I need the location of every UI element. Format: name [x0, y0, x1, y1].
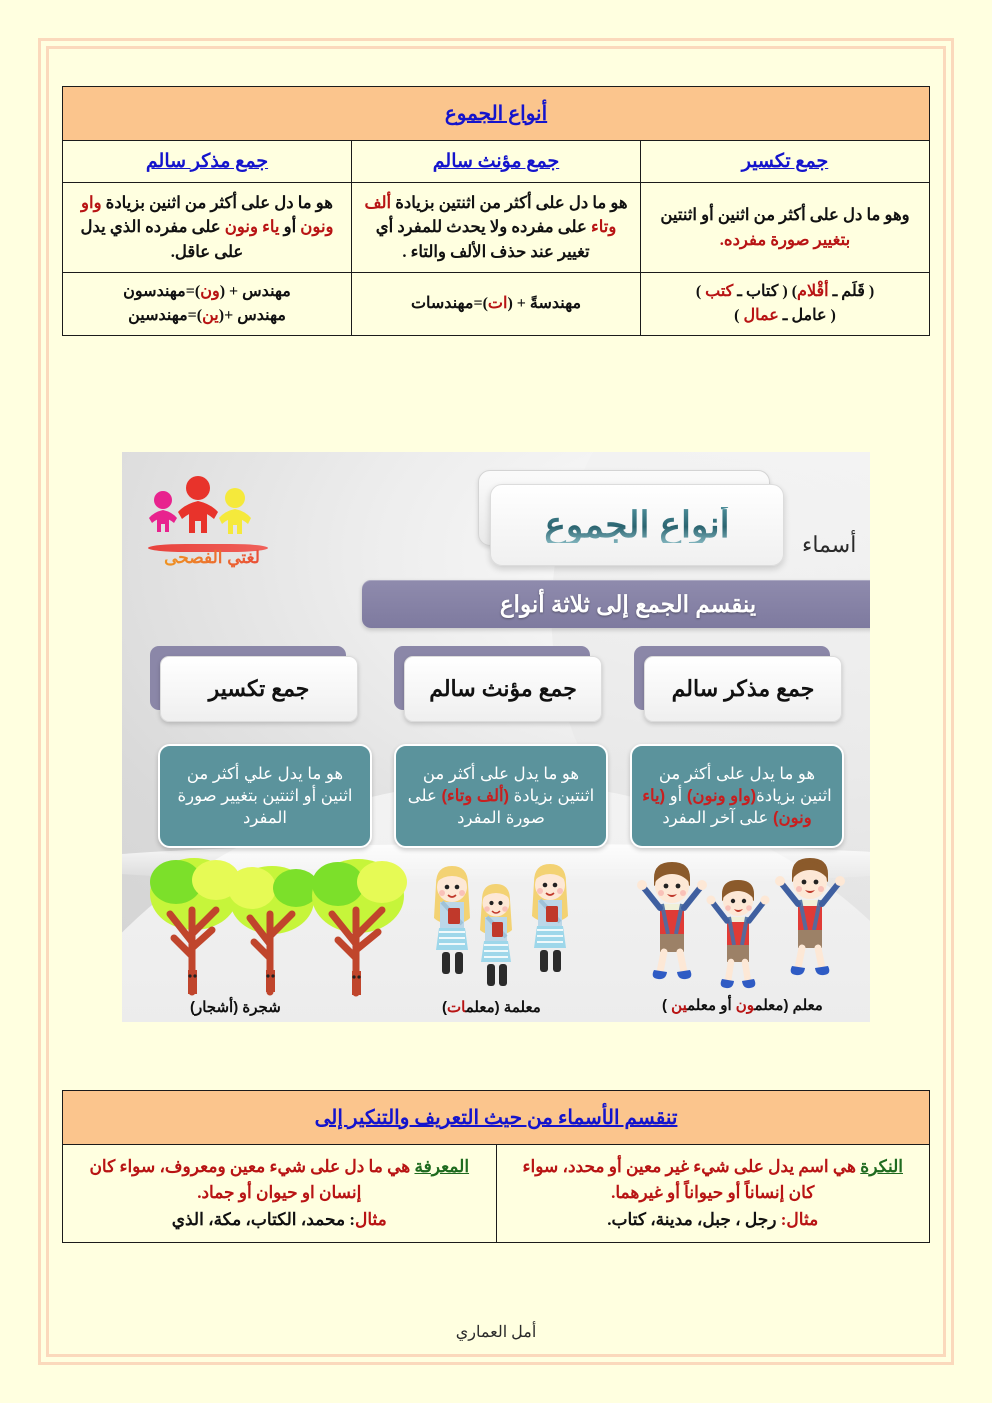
definite-table-title: تنقسم الأسماء من حيث التعريف والتنكير إل… [63, 1091, 930, 1145]
table-definite-indefinite: تنقسم الأسماء من حيث التعريف والتنكير إل… [62, 1090, 930, 1243]
table-row-header: أنواع الجموع [63, 87, 930, 141]
examples-jam-taksir: ( قَلَم ـ أقْلام) ( كتاب ـ كتب )( عامل ـ… [641, 273, 930, 336]
table-row-definitions: وهو ما دل على أكثر من اثنين أو اثنتين بت… [63, 183, 930, 273]
plural-table-title: أنواع الجموع [63, 87, 930, 141]
table-row-header: تنقسم الأسماء من حيث التعريف والتنكير إل… [63, 1091, 930, 1145]
three-figures-icon [138, 466, 286, 552]
definition-mudhakkar-salim: هو ما دل على أكثر من اثنين بزيادة واو ون… [63, 183, 352, 273]
caption-mudhakkar-salim: معلم (معلمون أو معلمين ) [662, 996, 823, 1014]
category-box-jam-taksir: جمع تكسير [160, 656, 358, 722]
examples-mudhakkar-salim: مهندس + (ون)=مهندسونمهندس +(ين)=مهندسين [63, 273, 352, 336]
table-plural-types: أنواع الجموع جمع تكسير جمع مؤنث سالم جمع… [62, 86, 930, 336]
column-head-mudhakkar-salim: جمع مذكر سالم [63, 141, 352, 183]
cell-almarifa: المعرفة هي ما دل على شيء معين ومعروف، سو… [63, 1145, 497, 1243]
caption-muannath-salim: معلمة (معلمات) [442, 998, 541, 1016]
worksheet-page: أنواع الجموع جمع تكسير جمع مؤنث سالم جمع… [0, 0, 992, 1403]
column-head-muannath-salim: جمع مؤنث سالم [352, 141, 641, 183]
logo-lughati-alfusha: لغتي الفصحى [138, 466, 286, 578]
teal-definition-jam-taksir: هو ما يدل علي أكثر من اثنين أو اثنتين بت… [158, 744, 372, 848]
category-box-muannath-salim: جمع مؤنث سالم [404, 656, 602, 722]
trees-illustration [146, 852, 446, 997]
plural-types-infographic: لغتي الفصحى أنواع الجموع أسماء ينقسم الج… [122, 452, 870, 1022]
table-row-content: النكرة هي اسم يدل على شيء غير معين أو مح… [63, 1145, 930, 1243]
title-plate-front: أنواع الجموع [490, 484, 784, 566]
table-row-examples: ( قَلَم ـ أقْلام) ( كتاب ـ كتب )( عامل ـ… [63, 273, 930, 336]
definition-muannath-salim: هو ما دل على أكثر من اثنتين بزيادة ألف و… [352, 183, 641, 273]
category-box-mudhakkar-salim: جمع مذكر سالم [644, 656, 842, 722]
logo-text: لغتي الفصحى [146, 548, 278, 568]
boys-illustration [634, 852, 854, 1002]
table-row-column-heads: جمع تكسير جمع مؤنث سالم جمع مذكر سالم [63, 141, 930, 183]
footer-author: أمل العماري [0, 1322, 992, 1342]
column-head-jam-taksir: جمع تكسير [641, 141, 930, 183]
infographic-title: أنواع الجموع [544, 507, 729, 543]
cell-alnakira: النكرة هي اسم يدل على شيء غير معين أو مح… [496, 1145, 930, 1243]
examples-muannath-salim: مهندسةً + (ات)=مهندسات [352, 273, 641, 336]
banner-three-types: ينقسم الجمع إلى ثلاثة أنواع [362, 580, 870, 628]
caption-jam-taksir: شجرة (أشجار) [190, 998, 281, 1016]
definition-jam-taksir: وهو ما دل على أكثر من اثنين أو اثنتين بت… [641, 183, 930, 273]
teal-definition-muannath-salim: هو ما يدل على أكثر من اثنتين بزيادة (ألف… [394, 744, 608, 848]
girls-illustration [418, 860, 588, 1000]
asmaa-label: أسماء [802, 532, 856, 558]
teal-definition-mudhakkar-salim: هو ما يدل على أكثر من اثنين بزيادة(واو و… [630, 744, 844, 848]
